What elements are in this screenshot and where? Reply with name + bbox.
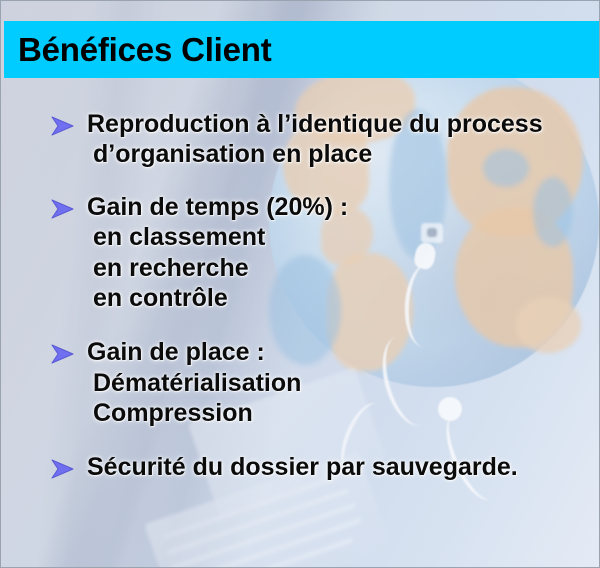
bullet-line: d’organisation en place [51,139,600,169]
arrow-bullet-icon [51,458,75,480]
bullet-list: Reproduction à l’identique du process d’… [1,101,600,501]
bullet-line: en classement [51,222,600,252]
bullet-line: Compression [51,398,600,428]
page-title: Bénéfices Client [18,31,272,69]
bullet-item: Reproduction à l’identique du process d’… [1,109,600,170]
arrow-bullet-icon [51,115,75,137]
title-band: Bénéfices Client [4,21,600,78]
bullet-line: Dématérialisation [51,368,600,398]
slide-canvas: Bénéfices Client Reproduction à l’identi… [0,0,600,568]
bullet-line: en contrôle [51,283,600,313]
bullet-line: Reproduction à l’identique du process [51,109,600,139]
bullet-item: Sécurité du dossier par sauvegarde. [1,452,600,482]
bullet-line: Sécurité du dossier par sauvegarde. [51,452,600,482]
bullet-line: en recherche [51,253,600,283]
bullet-line: Gain de temps (20%) : [51,192,600,222]
bullet-item: Gain de temps (20%) : en classement en r… [1,192,600,314]
bullet-line: Gain de place : [51,337,600,367]
arrow-bullet-icon [51,198,75,220]
bullet-item: Gain de place : Dématérialisation Compre… [1,337,600,428]
arrow-bullet-icon [51,343,75,365]
